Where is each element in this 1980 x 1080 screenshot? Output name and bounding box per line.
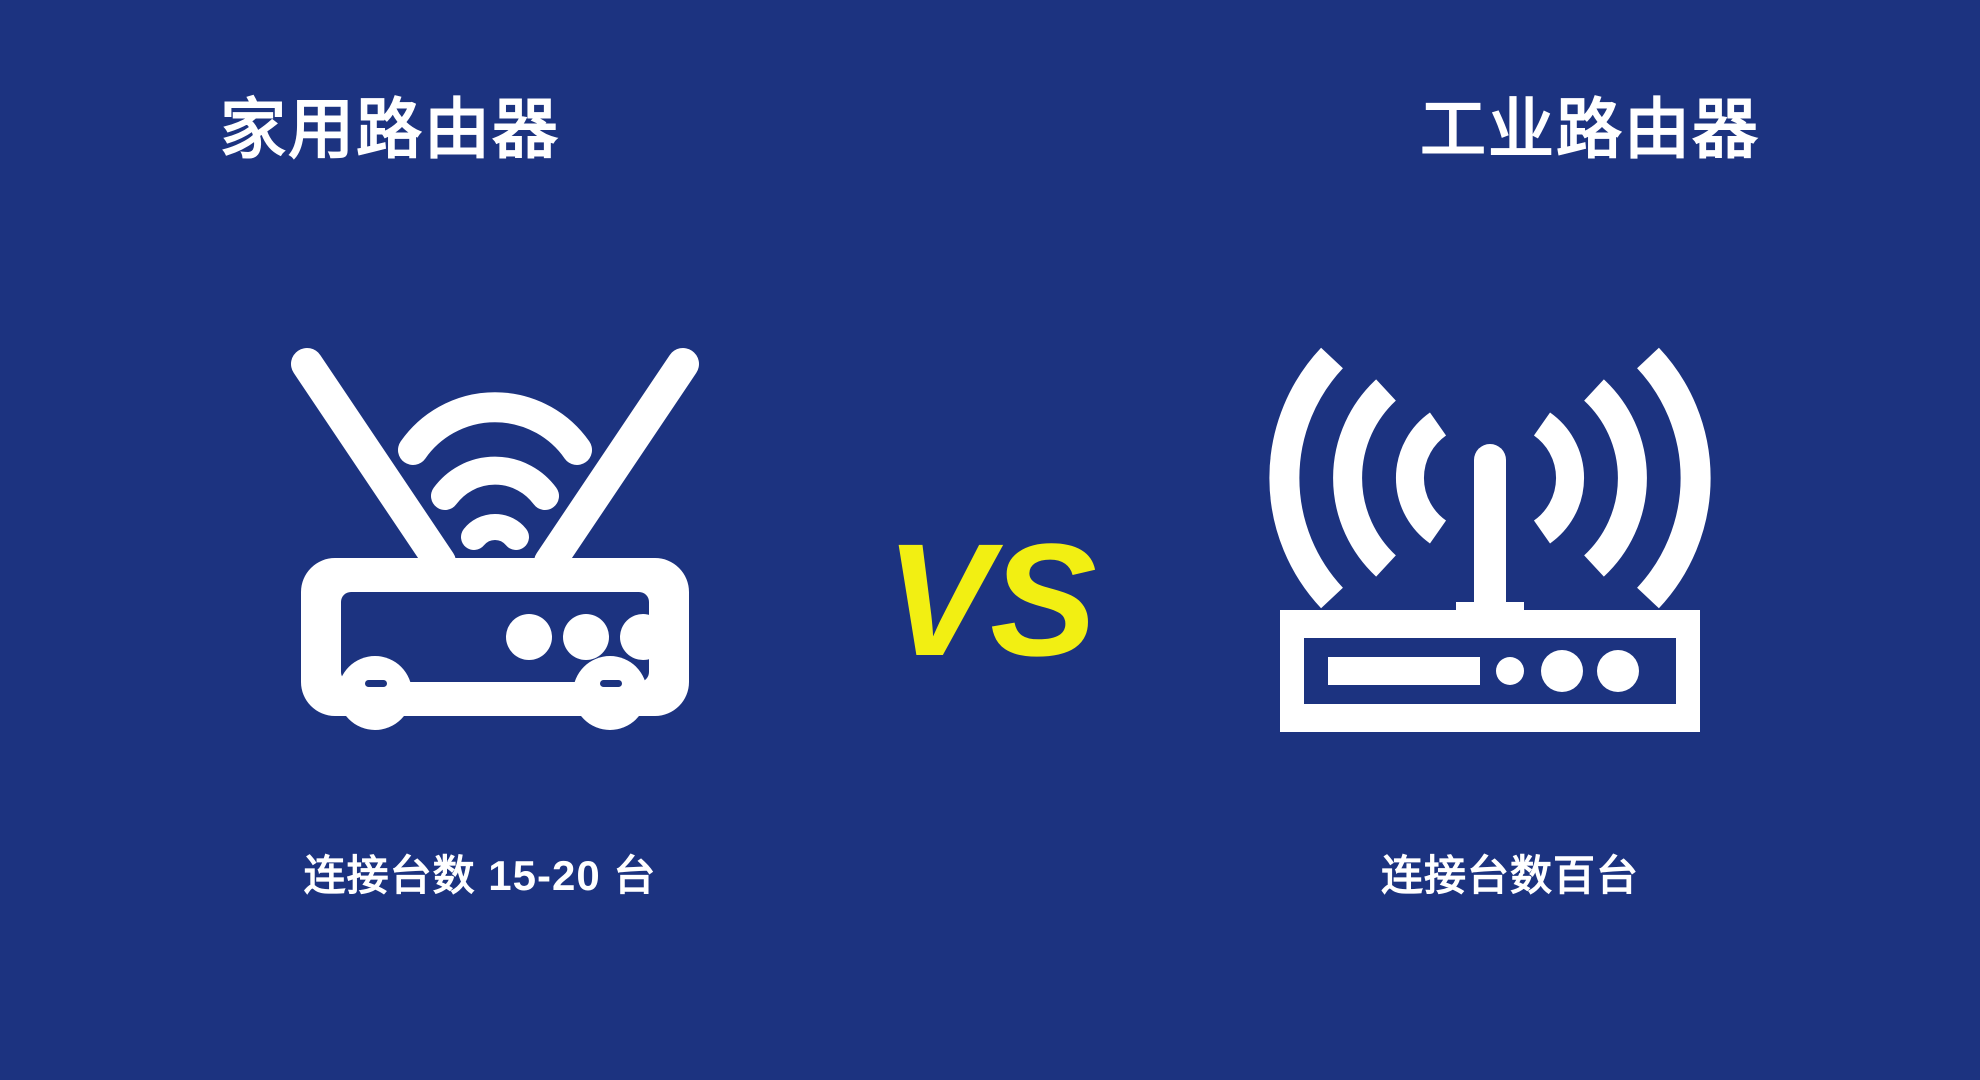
signal-arc-left-outer-icon [1284, 358, 1332, 598]
signal-arc-left-inner-icon [1410, 424, 1438, 532]
industrial-router-icon [1260, 330, 1720, 750]
indicator-dot-3-icon [1597, 650, 1639, 692]
comparison-side-industrial-router: 工业路由器 [1110, 0, 1870, 1080]
indicator-dot-2-icon [1541, 650, 1583, 692]
front-slot-bar-icon [1328, 657, 1480, 685]
signal-arc-right-outer-icon [1648, 358, 1696, 598]
foot-left-notch-icon [365, 680, 387, 687]
home-router-title: 家用路由器 [10, 96, 770, 162]
signal-arc-right-inner-icon [1542, 424, 1570, 532]
signal-arc-right-middle-icon [1594, 390, 1632, 566]
industrial-router-caption: 连接台数百台 [1130, 855, 1890, 897]
wifi-arc-outer-icon [413, 407, 577, 450]
industrial-router-title: 工业路由器 [1210, 96, 1970, 162]
industrial-router-glyph [1260, 330, 1720, 750]
indicator-dot-1-icon [1496, 657, 1524, 685]
comparison-poster: 家用路由器 [0, 0, 1980, 1080]
foot-right-notch-icon [600, 680, 622, 687]
home-router-caption: 连接台数 15-20 台 [100, 855, 860, 897]
signal-arc-left-middle-icon [1348, 390, 1386, 566]
wifi-arc-middle-icon [445, 471, 545, 496]
